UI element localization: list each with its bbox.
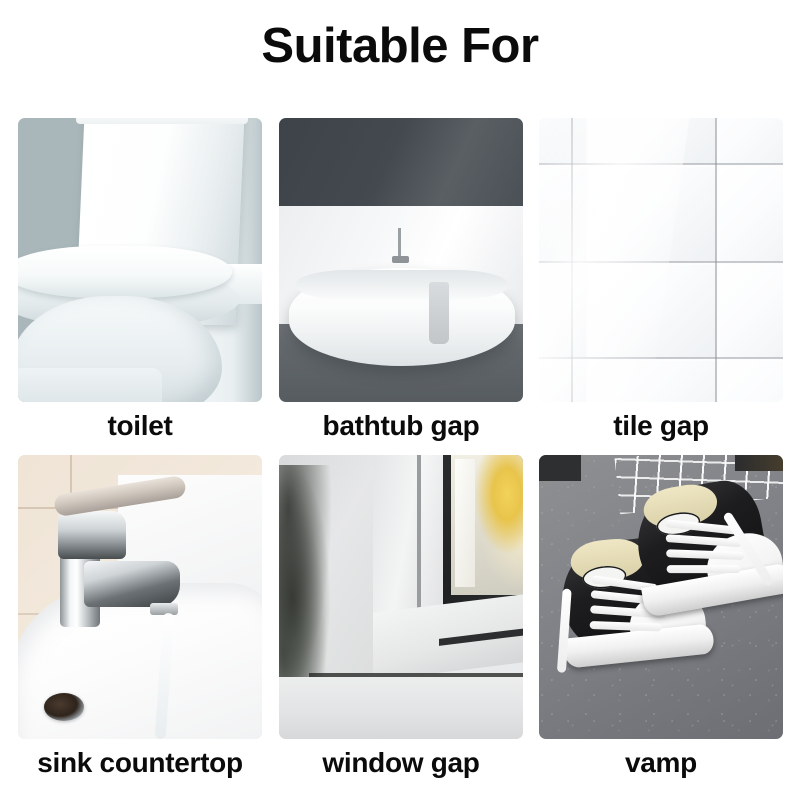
caption-vamp: vamp	[509, 747, 800, 779]
photo-window-gap	[279, 455, 523, 739]
photo-sink-countertop	[18, 455, 262, 739]
bathtub-scene	[279, 118, 523, 402]
tile-grout-vertical	[715, 118, 717, 402]
toilet-tank-lid	[76, 118, 248, 124]
window-scene	[279, 455, 523, 739]
page-title: Suitable For	[0, 22, 800, 71]
toilet-seat	[18, 246, 232, 298]
window-sill-base	[279, 677, 523, 739]
window-sash-vertical	[421, 455, 443, 605]
photo-vamp	[539, 455, 783, 739]
bathtub-towel	[429, 282, 449, 344]
caption-bathtub-gap: bathtub gap	[249, 410, 553, 442]
faucet-collar	[58, 511, 126, 559]
background-dark-corner	[539, 455, 581, 481]
background-object	[735, 455, 783, 471]
bathtub-inner-lip	[295, 270, 509, 300]
window-sash-edge	[455, 459, 475, 587]
caption-tile-gap: tile gap	[509, 410, 800, 442]
caption-window-gap: window gap	[249, 747, 553, 779]
bathtub-tap-stem	[398, 228, 401, 258]
wall-tile	[719, 360, 783, 402]
sink-scene	[18, 455, 262, 739]
wall-tile	[719, 118, 783, 164]
wall-tile	[719, 166, 783, 262]
toilet-scene	[18, 118, 262, 402]
basin-overflow-hole	[44, 693, 84, 721]
sneaker-lace	[667, 565, 741, 573]
photo-toilet	[18, 118, 262, 402]
mould-growth	[279, 465, 331, 680]
toilet-pedestal	[18, 368, 162, 402]
faucet-spout	[84, 561, 180, 607]
bathroom-wall-upper	[279, 118, 523, 206]
wall-tile	[719, 264, 783, 358]
photo-bathtub-gap	[279, 118, 523, 402]
tile-wall-scene	[539, 118, 783, 402]
bathtub-tap-head	[392, 256, 409, 263]
photo-tile-gap	[539, 118, 783, 402]
sneakers-scene	[539, 455, 783, 739]
